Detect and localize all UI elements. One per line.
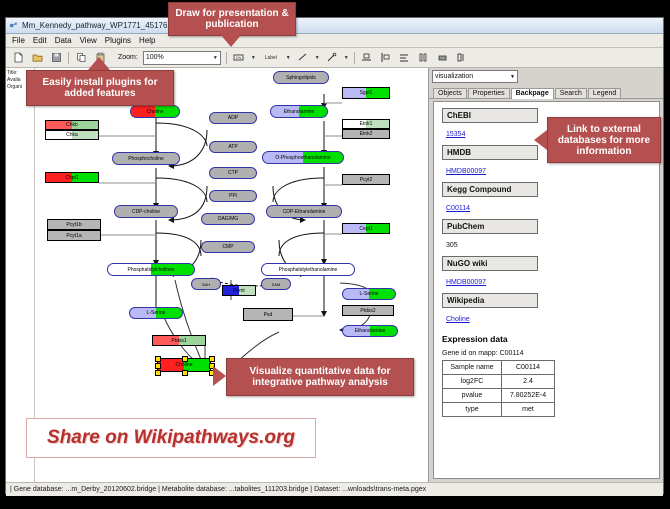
node-label: CTP	[228, 170, 238, 176]
node-label: L-Serine	[360, 291, 379, 297]
gene-node[interactable]: Cept1	[342, 223, 390, 234]
node-label: Pcyt2	[360, 177, 373, 183]
metabolite-node[interactable]: CMP	[201, 241, 255, 253]
selection-handle[interactable]	[182, 370, 188, 376]
node-label: Cept1	[359, 226, 372, 232]
node-label: ATP	[228, 144, 237, 150]
database-header-4: NuGO wiki	[442, 256, 538, 271]
selection-handle[interactable]	[155, 356, 161, 362]
label-dropdown-icon[interactable]: ▼	[286, 55, 291, 61]
draw-annotation: Draw for presentation & publication	[168, 2, 296, 36]
database-header-1: HMDB	[442, 145, 538, 160]
node-label: Phosphatidylethanolamine	[279, 267, 338, 273]
node-label: Ethanolamine	[355, 328, 386, 334]
window-title: Mm_Kennedy_pathway_WP1771_45176.gpml	[22, 21, 187, 30]
distribute-icon[interactable]	[398, 51, 412, 65]
visualization-combo[interactable]: visualization ▼	[432, 70, 518, 83]
expression-value: C00114	[502, 361, 555, 375]
copy-icon[interactable]	[74, 51, 88, 65]
menu-item-file[interactable]: File	[12, 36, 25, 45]
svg-text:DN: DN	[236, 55, 242, 60]
tab-properties[interactable]: Properties	[468, 88, 510, 98]
tab-objects[interactable]: Objects	[433, 88, 467, 98]
tab-search[interactable]: Search	[555, 88, 587, 98]
visualization-value: visualization	[435, 73, 473, 80]
gene-node[interactable]: Pemt	[222, 285, 256, 296]
gene-node[interactable]: Ptdss1	[152, 335, 206, 346]
status-text: | Gene database: ...m_Derby_20120602.bri…	[10, 486, 426, 493]
gene-node[interactable]: Psd	[243, 308, 293, 321]
node-label: Psd	[264, 312, 273, 318]
node-label: Ethanolamine	[284, 109, 315, 115]
node-label: SAM	[272, 282, 281, 287]
expression-row: typemet	[443, 403, 555, 417]
node-label: Choline	[176, 362, 193, 368]
database-link-5[interactable]: Choline	[446, 316, 470, 323]
node-label: Phosphatidylcholines	[128, 267, 175, 273]
node-label: L-Serine	[147, 310, 166, 316]
expression-data-title: Expression data	[442, 334, 651, 344]
zoom-combo[interactable]: 100% ▼	[143, 51, 221, 65]
database-link-2[interactable]: C00114	[446, 205, 470, 212]
visualize-annotation-arrow	[213, 366, 226, 386]
metabolite-node[interactable]: Choline	[130, 105, 180, 118]
tab-backpage[interactable]: Backpage	[511, 88, 554, 99]
database-link-1[interactable]: HMDB00097	[446, 168, 486, 175]
node-label: Ptdss2	[360, 308, 375, 314]
gene-node[interactable]: Chkb	[45, 120, 99, 130]
node-label: Choline	[147, 109, 164, 115]
metabolite-node[interactable]: Phosphatidylethanolamine	[261, 263, 355, 276]
menu-item-help[interactable]: Help	[139, 36, 155, 45]
expression-table: Sample nameC00114log2FC2.4pvalue7.80252E…	[442, 360, 555, 417]
menu-item-edit[interactable]: Edit	[33, 36, 47, 45]
node-label: CDP-choline	[132, 209, 160, 215]
node-label: O-Phosphoethanolamine	[275, 155, 330, 161]
node-label: CMP	[222, 244, 233, 250]
visualization-row: visualization ▼	[429, 68, 663, 85]
links-annotation: Link to external databases for more info…	[547, 117, 661, 163]
metabolite-node[interactable]: SAH	[191, 278, 221, 290]
gene-node[interactable]: Sgpl1	[342, 87, 390, 99]
node-label: CDP-Ethanolamine	[283, 209, 326, 215]
title-bar: Mm_Kennedy_pathway_WP1771_45176.gpml	[6, 18, 663, 34]
database-header-3: PubChem	[442, 219, 538, 234]
menu-bar: File Edit Data View Plugins Help	[6, 34, 663, 48]
expression-key: log2FC	[443, 375, 502, 389]
node-label: SAH	[202, 282, 210, 287]
database-link-4[interactable]: HMDB00097	[446, 279, 486, 286]
status-bar: | Gene database: ...m_Derby_20120602.bri…	[6, 482, 663, 496]
node-label: PPi	[229, 193, 237, 199]
toolbar-separator-3	[354, 52, 355, 64]
database-header-5: Wikipedia	[442, 293, 538, 308]
selection-handle[interactable]	[155, 370, 161, 376]
open-icon[interactable]	[30, 51, 44, 65]
expression-value: met	[502, 403, 555, 417]
metabolite-node[interactable]: PPi	[209, 190, 257, 202]
line-dropdown-icon[interactable]: ▼	[315, 55, 320, 61]
menu-item-data[interactable]: Data	[55, 36, 72, 45]
node-label: DAG/MG	[218, 216, 238, 222]
selection-handle[interactable]	[155, 363, 161, 369]
gene-node[interactable]: Pcyt1b	[47, 219, 101, 230]
expression-value: 7.80252E-4	[502, 389, 555, 403]
gene-node[interactable]: Pcyt2	[342, 174, 390, 185]
screenshot-root: Mm_Kennedy_pathway_WP1771_45176.gpml Fil…	[0, 0, 670, 509]
node-label: Etnk1	[360, 121, 373, 127]
selection-handle[interactable]	[209, 356, 215, 362]
links-annotation-arrow	[534, 130, 547, 150]
layer-icon[interactable]	[455, 51, 469, 65]
node-label: Chka	[66, 132, 78, 138]
metabolite-node[interactable]: CDP-Ethanolamine	[266, 205, 342, 218]
metabolite-node[interactable]: SAM	[261, 278, 291, 290]
node-label: ADP	[228, 115, 238, 121]
node-label: Chpt1	[65, 175, 78, 181]
gene-node[interactable]: Pcyt1a	[47, 230, 101, 241]
align-left-icon[interactable]	[379, 51, 393, 65]
database-header-0: ChEBI	[442, 108, 538, 123]
zoom-value: 100%	[146, 54, 164, 61]
anchor-dropdown-icon[interactable]: ▼	[344, 55, 349, 61]
node-label: Pcyt1b	[66, 222, 81, 228]
chevron-down-icon: ▼	[510, 74, 515, 80]
draw-annotation-arrow	[220, 34, 242, 47]
expression-value: 2.4	[502, 375, 555, 389]
gene-node[interactable]: Etnk1	[342, 119, 390, 129]
node-label: Pcyt1a	[66, 233, 81, 239]
selection-handle[interactable]	[182, 356, 188, 362]
zoom-label: Zoom:	[118, 54, 138, 61]
metabolite-node[interactable]: Ethanolamine	[342, 325, 398, 337]
toolbar-separator-1	[68, 52, 69, 64]
gene-node[interactable]: Chka	[45, 130, 99, 140]
visualize-annotation: Visualize quantitative data for integrat…	[226, 358, 414, 396]
label-icon[interactable]: Label	[261, 51, 281, 65]
database-header-2: Kegg Compound	[442, 182, 538, 197]
plugins-annotation-arrow	[88, 57, 110, 70]
expression-key: type	[443, 403, 502, 417]
metabolite-node[interactable]: Sphingolipids	[273, 71, 329, 84]
chevron-down-icon: ▼	[213, 55, 218, 61]
app-icon	[9, 21, 18, 30]
datanode-icon[interactable]: DN	[232, 51, 246, 65]
group-icon[interactable]	[436, 51, 450, 65]
metabolite-node[interactable]: L-Serine	[129, 307, 183, 319]
gene-node[interactable]: Chpt1	[45, 172, 99, 183]
metabolite-node[interactable]: DAG/MG	[201, 213, 255, 225]
save-icon[interactable]	[49, 51, 63, 65]
new-icon[interactable]	[11, 51, 25, 65]
database-value-3: 305	[446, 242, 458, 249]
metabolite-node[interactable]: Phosphatidylcholines	[107, 263, 195, 276]
gene-node[interactable]: Ptdss2	[342, 305, 394, 316]
node-label: Sphingolipids	[286, 75, 316, 81]
metabolite-node[interactable]: CTP	[209, 167, 257, 179]
metabolite-node[interactable]: CDP-choline	[114, 205, 178, 218]
stack-icon[interactable]	[417, 51, 431, 65]
node-label: Phosphocholine	[128, 156, 164, 162]
side-panel-tabs: Objects Properties Backpage Search Legen…	[429, 85, 663, 99]
node-label: Ptdss1	[171, 338, 186, 344]
database-link-0[interactable]: 15354	[446, 131, 465, 138]
gene-node[interactable]: Etnk2	[342, 129, 390, 139]
anchor-icon[interactable]	[325, 51, 339, 65]
node-label: Etnk2	[360, 131, 373, 137]
metabolite-node[interactable]: Phosphocholine	[112, 152, 180, 165]
metabolite-node[interactable]: O-Phosphoethanolamine	[262, 151, 344, 164]
metabolite-node[interactable]: Ethanolamine	[270, 105, 328, 118]
expression-row: log2FC2.4	[443, 375, 555, 389]
gene-id-label: Gene id on mapp: C00114	[442, 350, 651, 357]
metabolite-node[interactable]: ATP	[209, 141, 257, 153]
node-label: Chkb	[66, 122, 78, 128]
metabolite-node[interactable]: ADP	[209, 112, 257, 124]
plugins-annotation: Easily install plugins for added feature…	[26, 70, 174, 106]
expression-key: Sample name	[443, 361, 502, 375]
tab-legend[interactable]: Legend	[588, 88, 621, 98]
align-icon[interactable]	[360, 51, 374, 65]
datanode-dropdown-icon[interactable]: ▼	[251, 55, 256, 61]
menu-item-view[interactable]: View	[80, 36, 97, 45]
node-label: Pemt	[233, 288, 245, 294]
toolbar-separator-2	[226, 52, 227, 64]
node-label: Sgpl1	[360, 90, 373, 96]
line-icon[interactable]	[296, 51, 310, 65]
expression-row: pvalue7.80252E-4	[443, 389, 555, 403]
metabolite-node[interactable]: L-Serine	[342, 288, 396, 300]
menu-item-plugins[interactable]: Plugins	[105, 36, 131, 45]
expression-key: pvalue	[443, 389, 502, 403]
share-annotation: Share on Wikipathways.org	[26, 418, 316, 458]
expression-row: Sample nameC00114	[443, 361, 555, 375]
